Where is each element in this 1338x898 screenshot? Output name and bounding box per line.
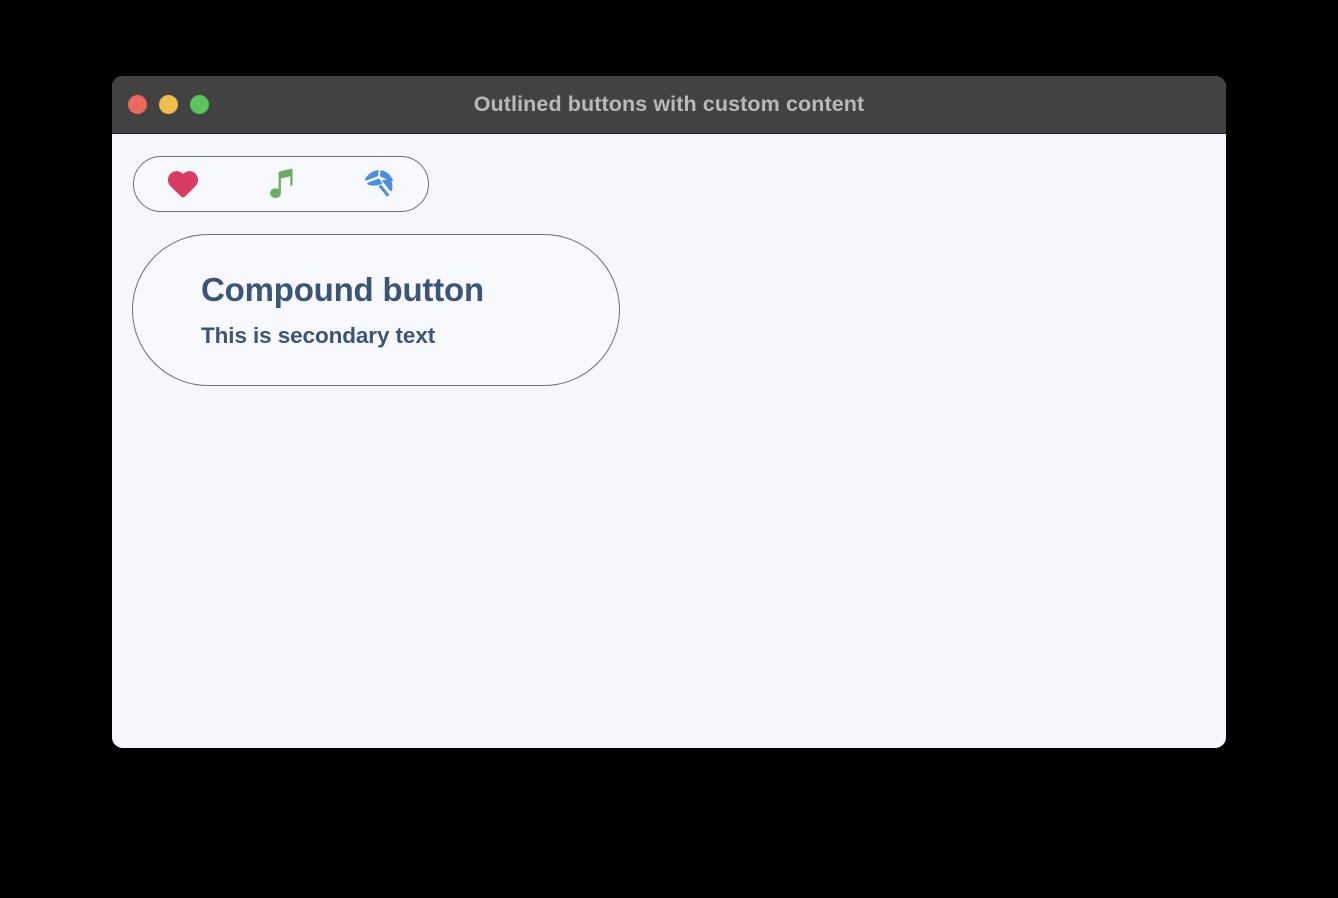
outlined-icon-button-group bbox=[133, 156, 429, 212]
beach-umbrella-button[interactable] bbox=[330, 157, 428, 211]
music-note-button[interactable] bbox=[232, 157, 330, 211]
desktop-backdrop: Outlined buttons with custom content bbox=[0, 0, 1338, 898]
window-content: Compound button This is secondary text bbox=[112, 134, 1226, 748]
window-titlebar: Outlined buttons with custom content bbox=[112, 76, 1226, 134]
close-button[interactable] bbox=[128, 95, 147, 114]
music-note-icon bbox=[268, 168, 294, 200]
beach-umbrella-icon bbox=[362, 167, 396, 201]
zoom-button[interactable] bbox=[190, 95, 209, 114]
window-controls bbox=[128, 76, 209, 133]
compound-button[interactable]: Compound button This is secondary text bbox=[132, 234, 620, 386]
window-title: Outlined buttons with custom content bbox=[112, 92, 1226, 117]
compound-button-secondary-text: This is secondary text bbox=[201, 323, 435, 349]
compound-button-primary-text: Compound button bbox=[201, 271, 484, 309]
heart-button[interactable] bbox=[134, 157, 232, 211]
app-window: Outlined buttons with custom content bbox=[112, 76, 1226, 748]
heart-icon bbox=[167, 169, 199, 199]
minimize-button[interactable] bbox=[159, 95, 178, 114]
